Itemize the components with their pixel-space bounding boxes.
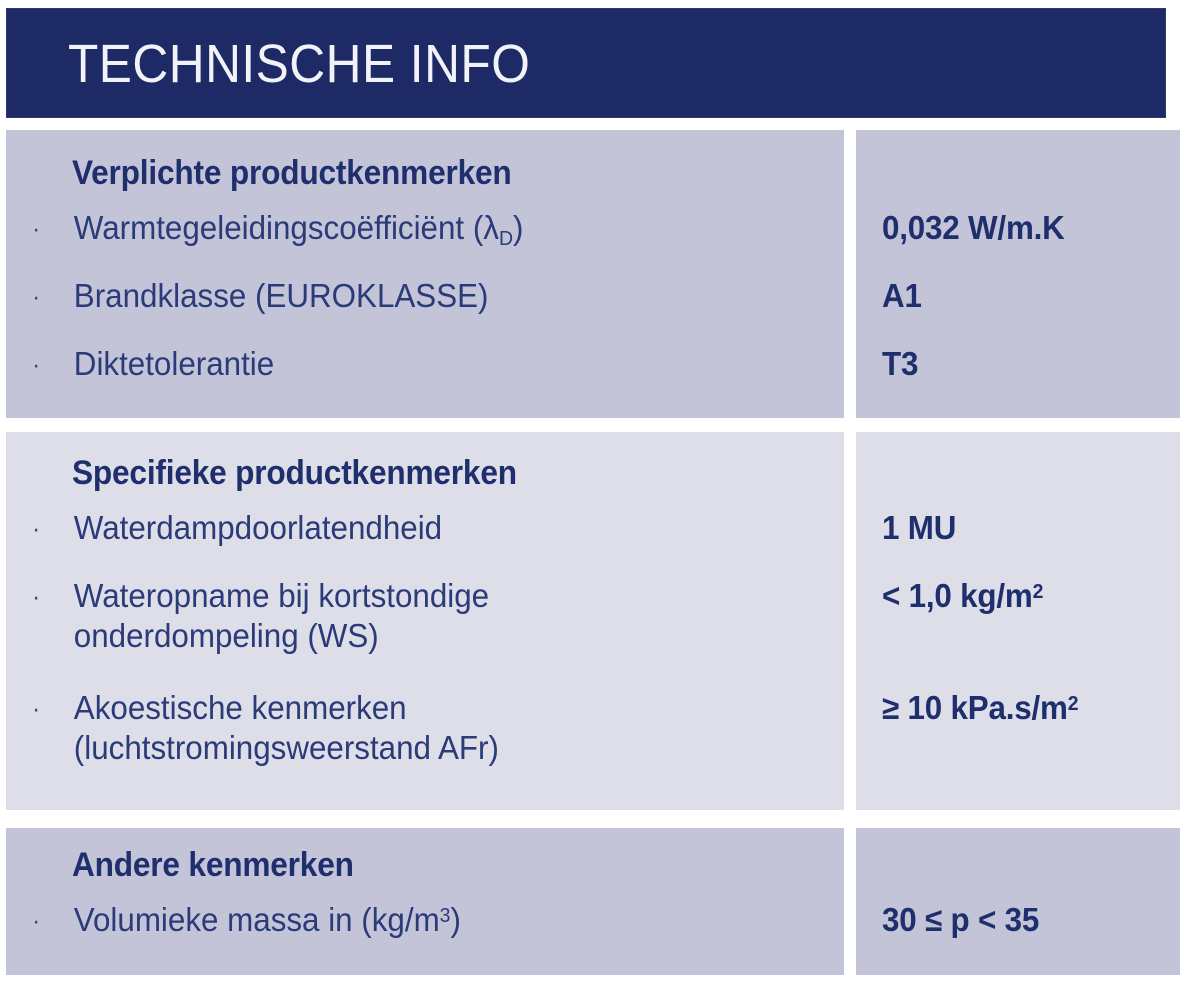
bullet-icon: ·	[32, 276, 74, 316]
section-specifieke-productkenmerken: Specifieke productkenmerken ·Waterdampdo…	[6, 432, 1180, 810]
row-label: Waterdampdoorlatendheid	[74, 508, 442, 548]
bullet-icon: ·	[32, 344, 74, 384]
row-label-line2: onderdompeling (WS)	[74, 617, 379, 654]
row-label: Diktetolerantie	[74, 344, 274, 384]
bullet-icon: ·	[32, 208, 74, 248]
row-value-superscript: 2	[1068, 692, 1079, 715]
row-label-line1: Wateropname bij kortstondige	[74, 577, 489, 614]
table-row: ·Volumieke massa in (kg/m3)	[32, 900, 461, 945]
section-2-column-divider	[844, 432, 856, 810]
row-value: A1	[882, 276, 922, 316]
section-andere-kenmerken: Andere kenmerken ·Volumieke massa in (kg…	[6, 828, 1180, 975]
row-label-line1: Akoestische kenmerken	[74, 689, 407, 726]
section-2-value-column	[856, 432, 1180, 810]
section-3-column-divider	[844, 828, 856, 975]
table-row: ·Brandklasse (EUROKLASSE)	[32, 276, 488, 316]
row-label-superscript: 3	[440, 904, 451, 927]
section-2-heading: Specifieke productkenmerken	[72, 454, 517, 492]
row-label: Brandklasse (EUROKLASSE)	[74, 276, 489, 316]
row-value-text: < 1,0 kg/m	[882, 577, 1033, 614]
bullet-icon: ·	[32, 900, 74, 940]
row-value: 1 MU	[882, 508, 956, 548]
table-row: ·Wateropname bij kortstondigeonderdompel…	[32, 576, 489, 656]
row-label-line2: (luchtstromingsweerstand AFr)	[74, 729, 499, 766]
page-title: TECHNISCHE INFO	[68, 35, 530, 93]
row-label: Akoestische kenmerken(luchtstromingsweer…	[74, 688, 499, 768]
technical-info-table: TECHNISCHE INFO Verplichte productkenmer…	[0, 0, 1200, 993]
bullet-icon: ·	[32, 688, 74, 728]
bullet-icon: ·	[32, 576, 74, 616]
row-label-subscript: D	[499, 227, 513, 250]
row-value: ≥ 10 kPa.s/m2	[882, 688, 1078, 733]
table-row: ·Diktetolerantie	[32, 344, 274, 384]
section-verplichte-productkenmerken: Verplichte productkenmerken ·Warmtegelei…	[6, 130, 1180, 418]
technical-info-header-bar: TECHNISCHE INFO	[6, 8, 1166, 118]
row-value: 0,032 W/m.K	[882, 208, 1065, 248]
row-label-text: Volumieke massa in (kg/m	[74, 901, 440, 938]
table-row: ·Akoestische kenmerken(luchtstromingswee…	[32, 688, 499, 768]
row-label: Wateropname bij kortstondigeonderdompeli…	[74, 576, 489, 656]
row-value: 30 ≤ p < 35	[882, 900, 1039, 940]
row-label: Volumieke massa in (kg/m3)	[74, 900, 461, 945]
row-value: T3	[882, 344, 918, 384]
table-row: ·Warmtegeleidingscoëfficiënt (λD)	[32, 208, 523, 253]
row-value: < 1,0 kg/m2	[882, 576, 1043, 621]
row-label-text: Warmtegeleidingscoëfficiënt (λ	[74, 209, 499, 246]
table-row: ·Waterdampdoorlatendheid	[32, 508, 442, 548]
row-label-suffix: )	[513, 209, 523, 246]
section-1-column-divider	[844, 130, 856, 418]
row-value-superscript: 2	[1033, 580, 1044, 603]
row-label: Warmtegeleidingscoëfficiënt (λD)	[74, 208, 524, 253]
section-3-heading: Andere kenmerken	[72, 846, 354, 884]
row-value-text: 1 MU	[882, 509, 956, 546]
section-1-heading: Verplichte productkenmerken	[72, 154, 512, 192]
row-label-suffix: )	[450, 901, 460, 938]
row-value-text: ≥ 10 kPa.s/m	[882, 689, 1068, 726]
bullet-icon: ·	[32, 508, 74, 548]
